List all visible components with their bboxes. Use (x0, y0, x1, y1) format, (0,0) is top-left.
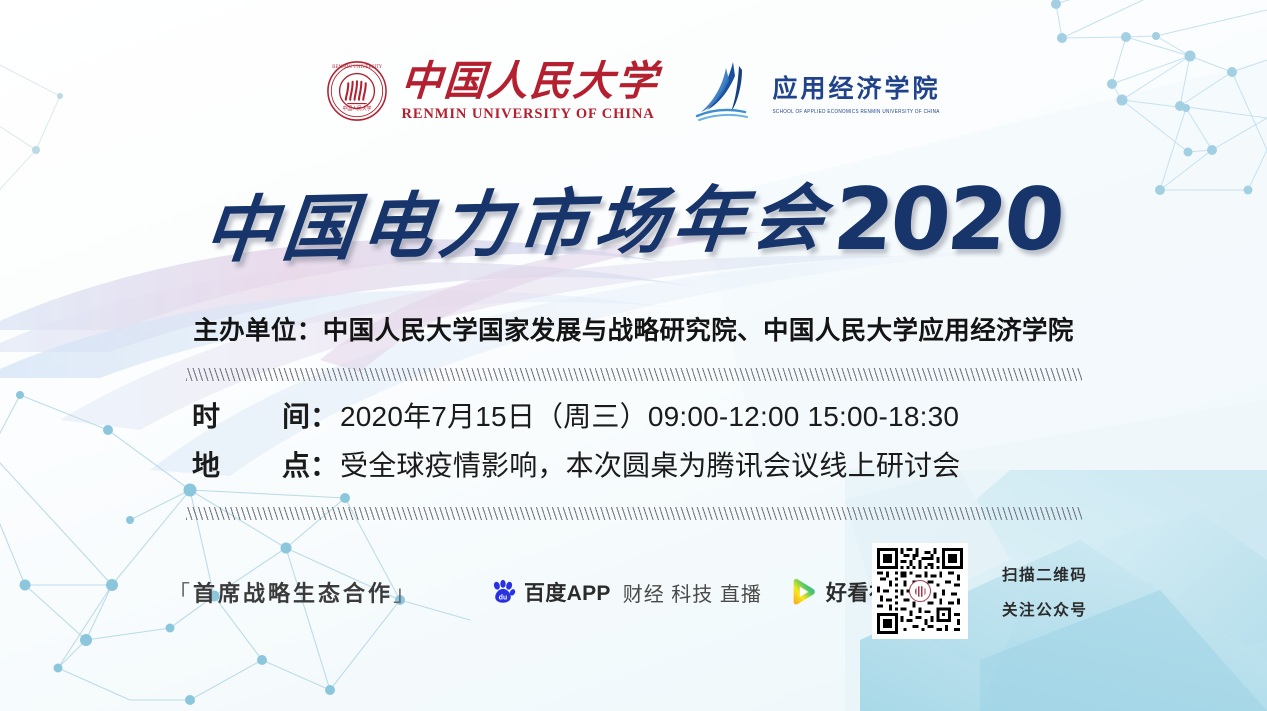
ruc-name-en: RENMIN UNIVERSITY OF CHINA (401, 107, 654, 122)
bracket-close-icon: 」 (393, 581, 418, 606)
poster-canvas: 中国人民大学 RENMIN UNIVERSITY 中国人民大学 RENMIN U… (0, 0, 1267, 711)
baidu-paw-text: du (499, 595, 507, 602)
play-triangle-icon (788, 577, 818, 607)
event-time-value: 2020年7月15日（周三）09:00-12:00 15:00-18:30 (340, 395, 959, 435)
qr-code-card[interactable] (872, 543, 968, 639)
event-location-label: 地 点 (192, 444, 310, 484)
svg-text:RENMIN UNIVERSITY: RENMIN UNIVERSITY (333, 65, 383, 70)
baidu-sponsor: du 百度APP 财经 科技 直播 (490, 577, 762, 607)
strategic-partner-tag: 「首席战略生态合作」 (168, 576, 418, 608)
qr-center-emblem-icon (909, 580, 931, 602)
event-info-rows: 时 间 ： 2020年7月15日（周三）09:00-12:00 15:00-18… (186, 381, 1082, 503)
poster-title-cn: 中国电力市场年会 (200, 158, 836, 276)
sae-name-en: SCHOOL OF APPLIED ECONOMICS RENMIN UNIVE… (772, 108, 939, 114)
poster-title: 中国电力市场年会 2020 (0, 165, 1267, 270)
divider-hatch-bottom (186, 507, 1082, 520)
sail-mark-icon (693, 60, 763, 122)
event-info-block: 时 间 ： 2020年7月15日（周三）09:00-12:00 15:00-18… (186, 368, 1082, 520)
qr-caption-line-2: 关注公众号 (1002, 598, 1088, 620)
event-time-label: 时 间 (192, 395, 310, 435)
logo-row: 中国人民大学 RENMIN UNIVERSITY 中国人民大学 RENMIN U… (0, 60, 1267, 122)
qr-caption-line-1: 扫描二维码 (1002, 563, 1088, 585)
school-of-applied-economics-logo: 应用经济学院 SCHOOL OF APPLIED ECONOMICS RENMI… (693, 60, 940, 122)
baidu-categories: 财经 科技 直播 (623, 578, 762, 607)
qr-caption: 扫描二维码 关注公众号 (1002, 563, 1088, 620)
event-time-label-b: 间 (282, 395, 310, 435)
baidu-paw-icon: du (490, 579, 516, 605)
strategic-partner-text: 首席战略生态合作 (193, 581, 393, 606)
event-location-label-a: 地 (192, 444, 220, 484)
baidu-app-name: 百度APP (524, 577, 611, 607)
qr-block: 扫描二维码 关注公众号 (872, 543, 1088, 639)
poster-title-year: 2020 (829, 170, 1065, 270)
event-time-label-a: 时 (192, 395, 220, 435)
event-location-value: 受全球疫情影响，本次圆桌为腾讯会议线上研讨会 (340, 444, 960, 484)
organiser-line: 主办单位：中国人民大学国家发展与战略研究院、中国人民大学应用经济学院 (0, 310, 1267, 347)
sponsor-row: 「首席战略生态合作」 du 百度APP 财经 科技 直播 (168, 576, 912, 608)
svg-text:中国人民大学: 中国人民大学 (343, 105, 372, 112)
renmin-university-logo: 中国人民大学 RENMIN UNIVERSITY 中国人民大学 RENMIN U… (326, 60, 659, 122)
divider-hatch-top (186, 368, 1082, 381)
event-location-label-b: 点 (282, 444, 310, 484)
event-location-row: 地 点 ： 受全球疫情影响，本次圆桌为腾讯会议线上研讨会 (192, 444, 1076, 484)
ruc-wordmark: 中国人民大学 RENMIN UNIVERSITY OF CHINA (401, 61, 659, 122)
sae-name-cn: 应用经济学院 (772, 69, 940, 105)
ruc-seal-icon: 中国人民大学 RENMIN UNIVERSITY (326, 60, 388, 122)
sae-wordmark: 应用经济学院 SCHOOL OF APPLIED ECONOMICS RENMI… (772, 69, 940, 113)
event-time-colon: ： (310, 395, 338, 435)
event-time-row: 时 间 ： 2020年7月15日（周三）09:00-12:00 15:00-18… (192, 395, 1076, 435)
event-location-colon: ： (310, 444, 338, 484)
ruc-name-cn: 中国人民大学 (400, 61, 661, 102)
bracket-open-icon: 「 (168, 581, 193, 606)
